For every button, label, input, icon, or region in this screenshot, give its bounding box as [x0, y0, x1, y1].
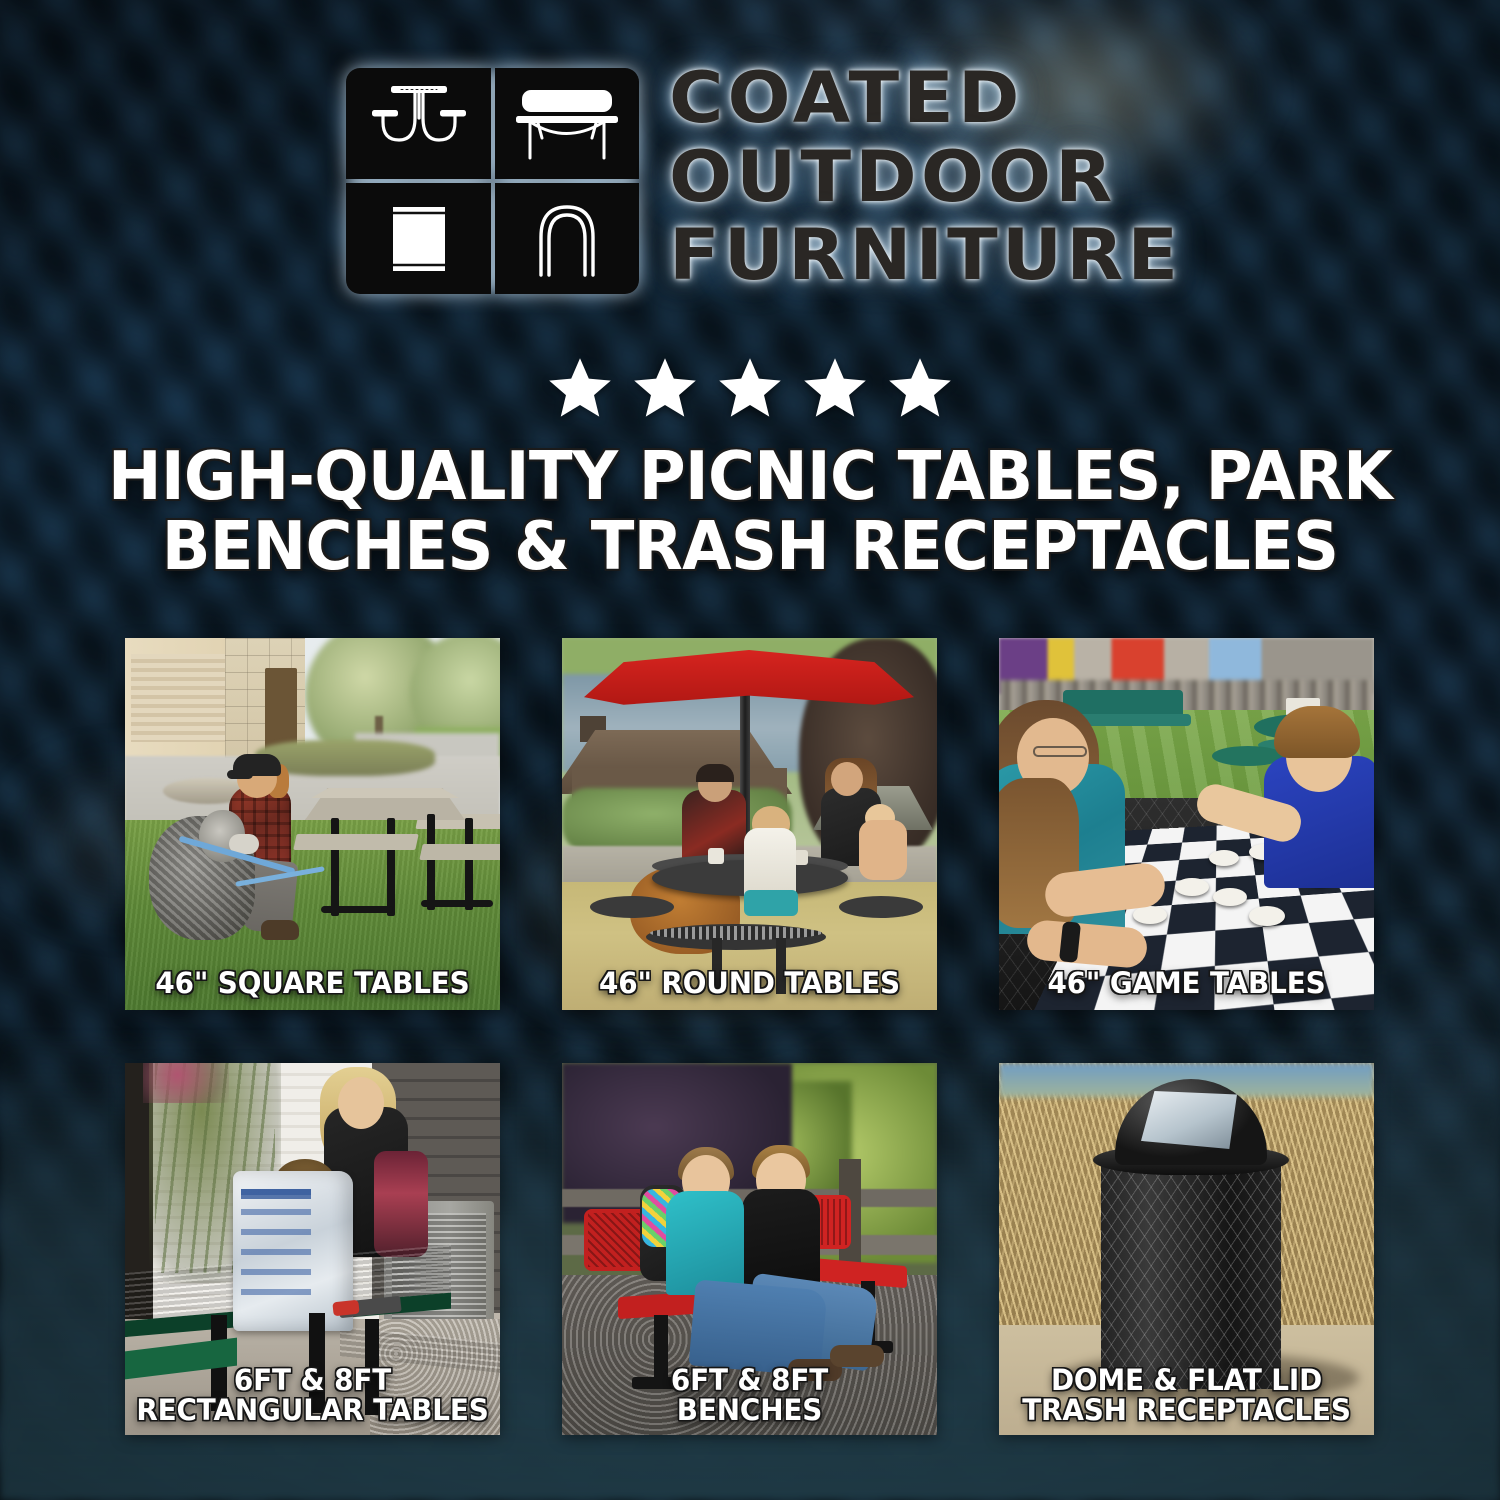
product-photo-round-tables [562, 638, 937, 1010]
brand-logo[interactable]: COATED OUTDOOR FURNITURE [0, 68, 1500, 294]
product-tile-trash-receptacles[interactable]: DOME & FLAT LID TRASH RECEPTACLES [999, 1063, 1374, 1435]
product-caption-square-tables: 46" SQUARE TABLES [133, 968, 493, 998]
product-tile-game-tables[interactable]: 46" GAME TABLES [999, 638, 1374, 1010]
star-icon [886, 355, 954, 421]
arch-bike-rack-icon [495, 183, 640, 294]
caption-line: BENCHES [570, 1395, 930, 1425]
caption-line: 6FT & 8FT [133, 1365, 493, 1395]
trash-receptacle-icon [346, 183, 491, 294]
logo-word-line-2: OUTDOOR [669, 143, 1182, 212]
page-content: COATED OUTDOOR FURNITURE HIGH-QUALITY PI… [0, 0, 1500, 1500]
logo-mark [346, 68, 639, 294]
product-photo-game-tables [999, 638, 1374, 1010]
star-icon [631, 355, 699, 421]
caption-line: TRASH RECEPTACLES [1007, 1395, 1367, 1425]
product-caption-trash-receptacles: DOME & FLAT LID TRASH RECEPTACLES [1007, 1365, 1367, 1425]
product-grid: 46" SQUARE TABLES [125, 638, 1375, 1435]
product-caption-game-tables: 46" GAME TABLES [1007, 968, 1367, 998]
caption-line: DOME & FLAT LID [1007, 1365, 1367, 1395]
product-tile-square-tables[interactable]: 46" SQUARE TABLES [125, 638, 500, 1010]
headline-line-2: BENCHES & TRASH RECEPTACLES [91, 512, 1409, 582]
logo-word-line-1: COATED [669, 64, 1182, 133]
caption-line: 46" ROUND TABLES [570, 968, 930, 998]
caption-line: 46" GAME TABLES [1007, 968, 1367, 998]
product-tile-round-tables[interactable]: 46" ROUND TABLES [562, 638, 937, 1010]
logo-word-line-3: FURNITURE [669, 221, 1182, 290]
headline-line-1: HIGH-QUALITY PICNIC TABLES, PARK [91, 442, 1409, 512]
picnic-table-icon [346, 68, 491, 179]
product-tile-benches[interactable]: 6FT & 8FT BENCHES [562, 1063, 937, 1435]
star-rating [0, 355, 1500, 421]
product-photo-square-tables [125, 638, 500, 1010]
product-caption-rectangular-tables: 6FT & 8FT RECTANGULAR TABLES [133, 1365, 493, 1425]
product-caption-round-tables: 46" ROUND TABLES [570, 968, 930, 998]
caption-line: 6FT & 8FT [570, 1365, 930, 1395]
star-icon [546, 355, 614, 421]
product-tile-rectangular-tables[interactable]: 6FT & 8FT RECTANGULAR TABLES [125, 1063, 500, 1435]
caption-line: RECTANGULAR TABLES [133, 1395, 493, 1425]
caption-line: 46" SQUARE TABLES [133, 968, 493, 998]
star-icon [801, 355, 869, 421]
product-caption-benches: 6FT & 8FT BENCHES [570, 1365, 930, 1425]
park-bench-icon [495, 68, 640, 179]
page-headline: HIGH-QUALITY PICNIC TABLES, PARK BENCHES… [91, 442, 1409, 581]
logo-wordmark: COATED OUTDOOR FURNITURE [669, 64, 1153, 290]
star-icon [716, 355, 784, 421]
